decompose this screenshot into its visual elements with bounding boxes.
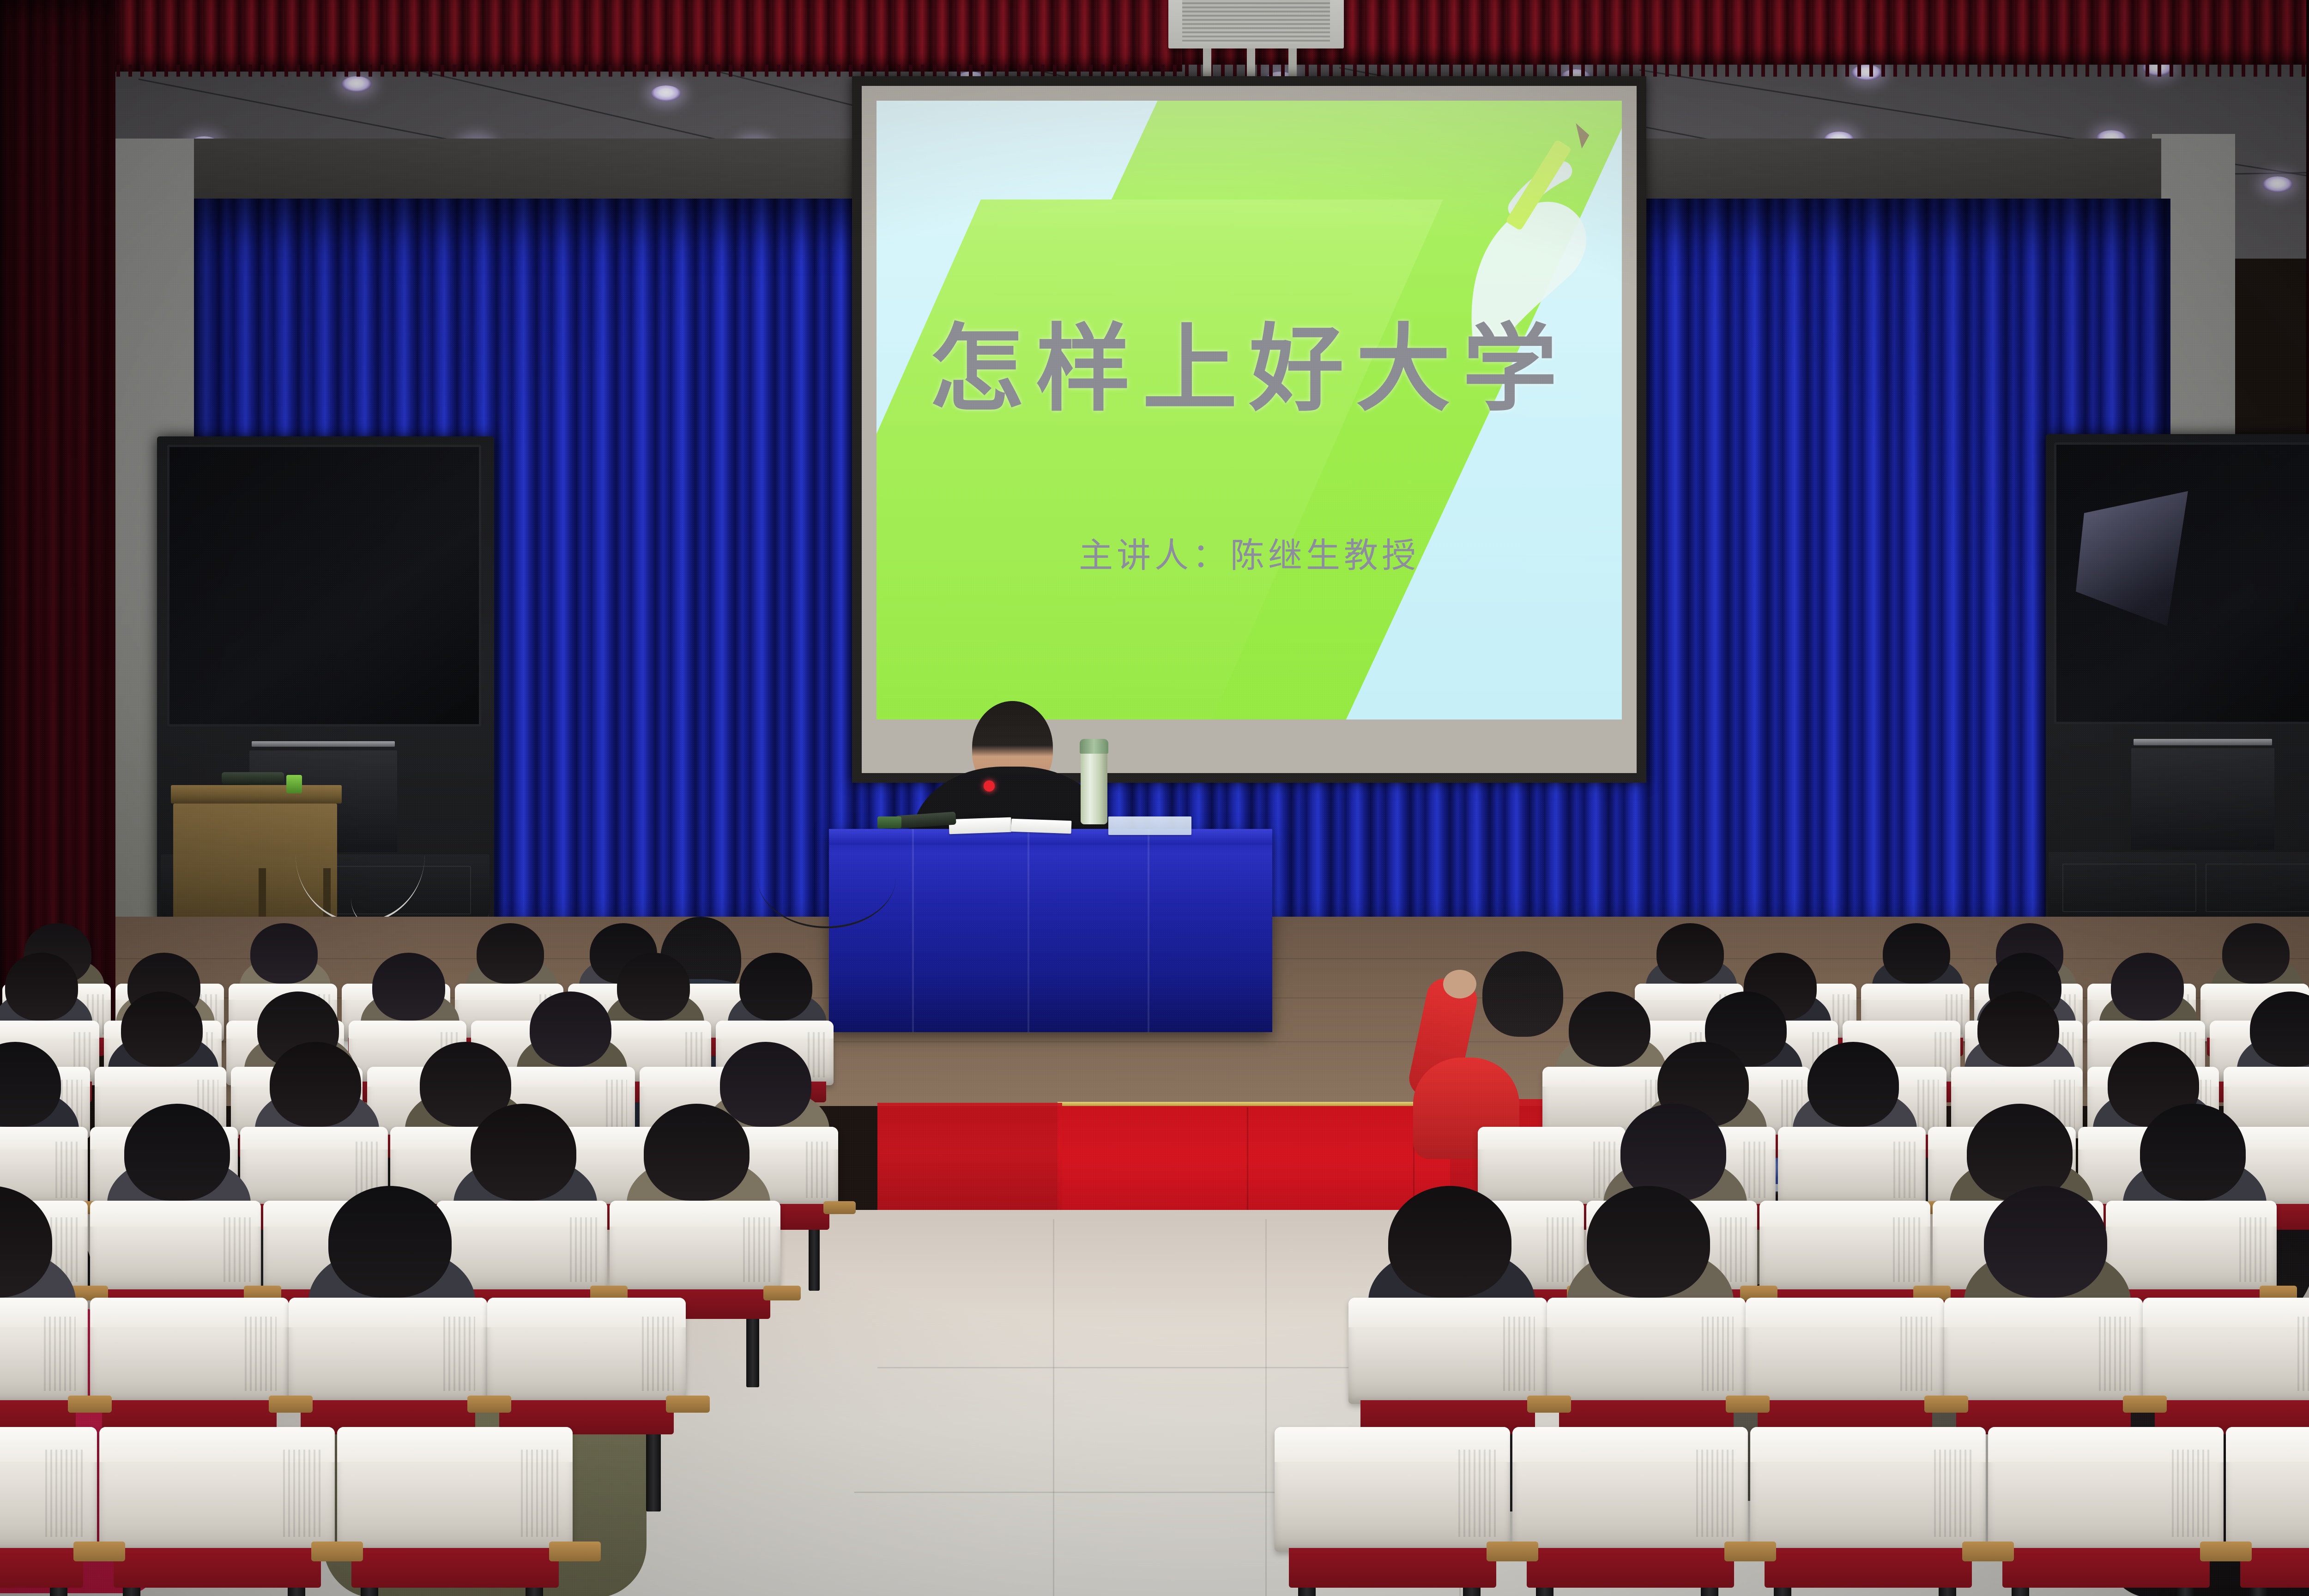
- audience-head: [5, 953, 78, 1021]
- seat-backrest: [90, 1298, 289, 1404]
- seat-backrest: [1759, 1201, 1930, 1293]
- seat-armrest: [467, 1396, 511, 1413]
- seat-cover-crease: [570, 1217, 597, 1282]
- audience-head: [372, 953, 445, 1021]
- seat-cover-crease: [806, 1142, 829, 1198]
- seat-cover-crease: [443, 1317, 475, 1391]
- audience-head: [530, 991, 611, 1067]
- seat-armrest: [311, 1542, 363, 1561]
- side-curtain-left: [0, 0, 115, 1039]
- stage-apron-left: [877, 1103, 1062, 1214]
- seat-backrest: [1944, 1298, 2143, 1404]
- audience-head: [617, 953, 690, 1021]
- auditorium-seat[interactable]: [2226, 1427, 2309, 1552]
- auditorium-seat[interactable]: [1759, 1201, 1930, 1293]
- seat-cover-crease: [2297, 1317, 2309, 1391]
- seat-backrest: [1778, 1127, 1926, 1208]
- seat-armrest: [2123, 1396, 2167, 1413]
- audience-head: [1620, 1104, 1726, 1201]
- audience-head: [739, 953, 812, 1021]
- audience-head: [250, 923, 318, 984]
- floor-grout-line: [1265, 1219, 1267, 1596]
- seat-cover-crease: [1503, 1317, 1535, 1391]
- projection-screen: 怎样上好大学 主讲人：陈继生教授: [876, 101, 1622, 719]
- paper-sheet: [949, 817, 1011, 834]
- seat-cover-crease: [743, 1217, 770, 1282]
- auditorium-seat[interactable]: [1746, 1298, 1944, 1404]
- seat-cover-crease: [1702, 1317, 1734, 1391]
- seat-cover-crease: [1720, 1217, 1747, 1282]
- auditorium-seat[interactable]: [337, 1427, 573, 1552]
- audience-head: [1807, 1042, 1899, 1127]
- seat-armrest: [1726, 1396, 1770, 1413]
- seat-backrest: [1348, 1298, 1547, 1404]
- seat-base: [1289, 1548, 1496, 1588]
- audience-head: [471, 1104, 576, 1201]
- audience-head: [2111, 953, 2184, 1021]
- seat-armrest: [823, 1201, 856, 1214]
- mic-cable: [757, 827, 896, 928]
- seat-backrest: [1275, 1427, 1510, 1552]
- seat-base: [1527, 1548, 1734, 1588]
- seat-backrest: [0, 1427, 97, 1552]
- tv-cabinet-door: [2062, 864, 2196, 912]
- seat-cover-crease: [283, 1450, 321, 1537]
- seat-base: [351, 1548, 559, 1588]
- seat-cover-crease: [44, 1317, 76, 1391]
- seat-base: [0, 1548, 83, 1588]
- audience-head: [1984, 1186, 2107, 1298]
- auditorium-seat[interactable]: [2143, 1298, 2309, 1404]
- audience-head: [124, 1104, 230, 1201]
- valance-scallop: [0, 65, 2309, 77]
- seat-backrest: [90, 1201, 261, 1293]
- seat-armrest: [1487, 1542, 1538, 1561]
- lecture-hall-photo: 怎样上好大学 主讲人：陈继生教授: [0, 0, 2309, 1596]
- slide-title: 怎样上好大学: [876, 292, 1622, 429]
- seat-armrest: [1924, 1396, 1968, 1413]
- seat-backrest: [1547, 1298, 1746, 1404]
- tv-screen-reflection: [2070, 482, 2209, 639]
- audience-head: [477, 923, 544, 984]
- seat-backrest: [1746, 1298, 1944, 1404]
- audience-head-red-row: [1482, 951, 1563, 1037]
- tv-accent-strip-left: [252, 741, 395, 747]
- seat-cover-top: [2226, 1427, 2309, 1462]
- audience-head: [328, 1186, 452, 1298]
- seat-cover-crease: [45, 1450, 83, 1537]
- auditorium-seat[interactable]: [289, 1298, 487, 1404]
- seat-backrest: [1988, 1427, 2224, 1552]
- seat-armrest: [73, 1542, 125, 1561]
- seat-armrest: [1527, 1396, 1571, 1413]
- seat-cover-crease: [1696, 1450, 1734, 1537]
- seat-cover-crease: [224, 1217, 251, 1282]
- floor-grout-line: [1053, 1219, 1054, 1596]
- auditorium-seat[interactable]: [1547, 1298, 1746, 1404]
- seat-cover-crease: [2239, 1217, 2267, 1282]
- seat-armrest: [763, 1286, 801, 1300]
- presenter-table: [829, 829, 1272, 1032]
- seat-cover-crease: [808, 1032, 827, 1077]
- auditorium-seat[interactable]: [1275, 1427, 1510, 1552]
- auditorium-seat[interactable]: [1478, 1127, 1626, 1208]
- seat-cover-crease: [521, 1450, 559, 1537]
- auditorium-seat[interactable]: [99, 1427, 335, 1552]
- seat-cover-crease: [2099, 1317, 2131, 1391]
- seat-backrest: [2143, 1298, 2309, 1404]
- thermos-bottle: [1081, 748, 1107, 824]
- seat-armrest: [1962, 1542, 2014, 1561]
- auditorium-seat[interactable]: [610, 1201, 780, 1293]
- seat-cover-crease: [1934, 1450, 1972, 1537]
- seat-backrest: [289, 1298, 487, 1404]
- seat-base: [114, 1548, 321, 1588]
- seat-armrest: [2200, 1542, 2252, 1561]
- audience-head: [1883, 923, 1950, 984]
- microphone-on-desk: [222, 772, 284, 784]
- seat-backrest: [2106, 1201, 2277, 1293]
- seat-backrest: [99, 1427, 335, 1552]
- seat-armrest: [269, 1396, 313, 1413]
- auditorium-seat[interactable]: [90, 1298, 289, 1404]
- seat-cover-crease: [1893, 1142, 1917, 1198]
- tv-screen-right: [2054, 442, 2309, 724]
- seat-cover-crease: [1900, 1317, 1932, 1391]
- audience-head: [720, 1042, 811, 1127]
- tv-accent-strip-right: [2134, 739, 2272, 745]
- seat-base: [2002, 1548, 2210, 1588]
- auditorium-seat[interactable]: [1944, 1298, 2143, 1404]
- seat-backrest: [2226, 1427, 2309, 1552]
- spotlight-icon: [651, 85, 681, 101]
- seat-cover-crease: [2172, 1450, 2210, 1537]
- seat-armrest: [68, 1396, 112, 1413]
- audience-head: [1569, 991, 1650, 1067]
- green-connector: [286, 775, 302, 793]
- audience-head: [1587, 1186, 1710, 1298]
- audience-head: [1656, 923, 1724, 984]
- auditorium-seat[interactable]: [1778, 1127, 1926, 1208]
- thermos-cap: [1080, 739, 1108, 754]
- audience-head: [2222, 923, 2290, 984]
- seat-cover-crease: [1547, 1217, 1574, 1282]
- audience-head: [1967, 1104, 2073, 1201]
- table-fold: [1148, 829, 1149, 1032]
- seat-cover-crease: [1893, 1217, 1920, 1282]
- auditorium-seat[interactable]: [0, 1298, 88, 1404]
- auditorium-seat[interactable]: [487, 1298, 686, 1404]
- seat-cover-crease: [245, 1317, 277, 1391]
- seat-cover-crease: [642, 1317, 674, 1391]
- seat-armrest: [549, 1542, 601, 1561]
- seat-backrest: [487, 1298, 686, 1404]
- mic-cable-connector: [877, 816, 901, 828]
- seat-cover-crease: [1743, 1142, 1767, 1198]
- rear-projection-tv-right: [2046, 434, 2309, 924]
- auditorium-seat[interactable]: [0, 1427, 97, 1552]
- side-desk-top: [171, 785, 342, 804]
- tv-speaker-grille-right: [2131, 748, 2274, 850]
- valance-curtain-left: [0, 0, 1182, 72]
- audience-head: [1977, 991, 2059, 1067]
- audience-head: [121, 991, 203, 1067]
- auditorium-seat[interactable]: [2106, 1201, 2277, 1293]
- plastic-bag: [1108, 816, 1191, 835]
- seat-backrest: [610, 1201, 780, 1293]
- ac-grille: [1182, 0, 1330, 44]
- audience-head: [270, 1042, 361, 1127]
- table-fold: [912, 829, 914, 1032]
- seat-cover-crease: [1917, 1080, 1939, 1130]
- paper-sheet: [1011, 819, 1072, 834]
- seat-cover-top: [2143, 1298, 2309, 1327]
- seat-base: [1765, 1548, 1972, 1588]
- auditorium-seat[interactable]: [90, 1201, 261, 1293]
- seat-armrest: [666, 1396, 710, 1413]
- seat-backrest: [337, 1427, 573, 1552]
- seat-armrest: [1724, 1542, 1776, 1561]
- audience-head: [2140, 1104, 2246, 1201]
- seat-backrest: [1512, 1427, 1748, 1552]
- lapel-badge: [984, 780, 995, 792]
- spotlight-icon: [342, 76, 371, 92]
- slide-subtitle: 主讲人：陈继生教授: [876, 528, 1622, 577]
- seat-cover-crease: [606, 1080, 627, 1130]
- seat-cover-top: [2224, 1067, 2309, 1087]
- audience-head: [1388, 1186, 1511, 1298]
- valance-curtain-right: [1182, 0, 2309, 65]
- seat-cover-crease: [55, 1142, 79, 1198]
- seat-backrest: [1478, 1127, 1626, 1208]
- auditorium-seat[interactable]: [1348, 1298, 1547, 1404]
- stage-trim-gold: [1058, 1102, 1450, 1106]
- auditorium-seat[interactable]: [1750, 1427, 1986, 1552]
- table-fold: [1028, 829, 1029, 1032]
- audience-head: [644, 1104, 750, 1201]
- raised-hand: [1443, 970, 1476, 998]
- auditorium-seat[interactable]: [1512, 1427, 1748, 1552]
- spotlight-icon: [2263, 176, 2292, 192]
- auditorium-seat[interactable]: [1988, 1427, 2224, 1552]
- seat-backrest: [1750, 1427, 1986, 1552]
- tv-cabinet-door: [2206, 864, 2309, 912]
- seat-cover-crease: [1458, 1450, 1496, 1537]
- tv-screen-left: [167, 445, 481, 726]
- seat-backrest: [0, 1298, 88, 1404]
